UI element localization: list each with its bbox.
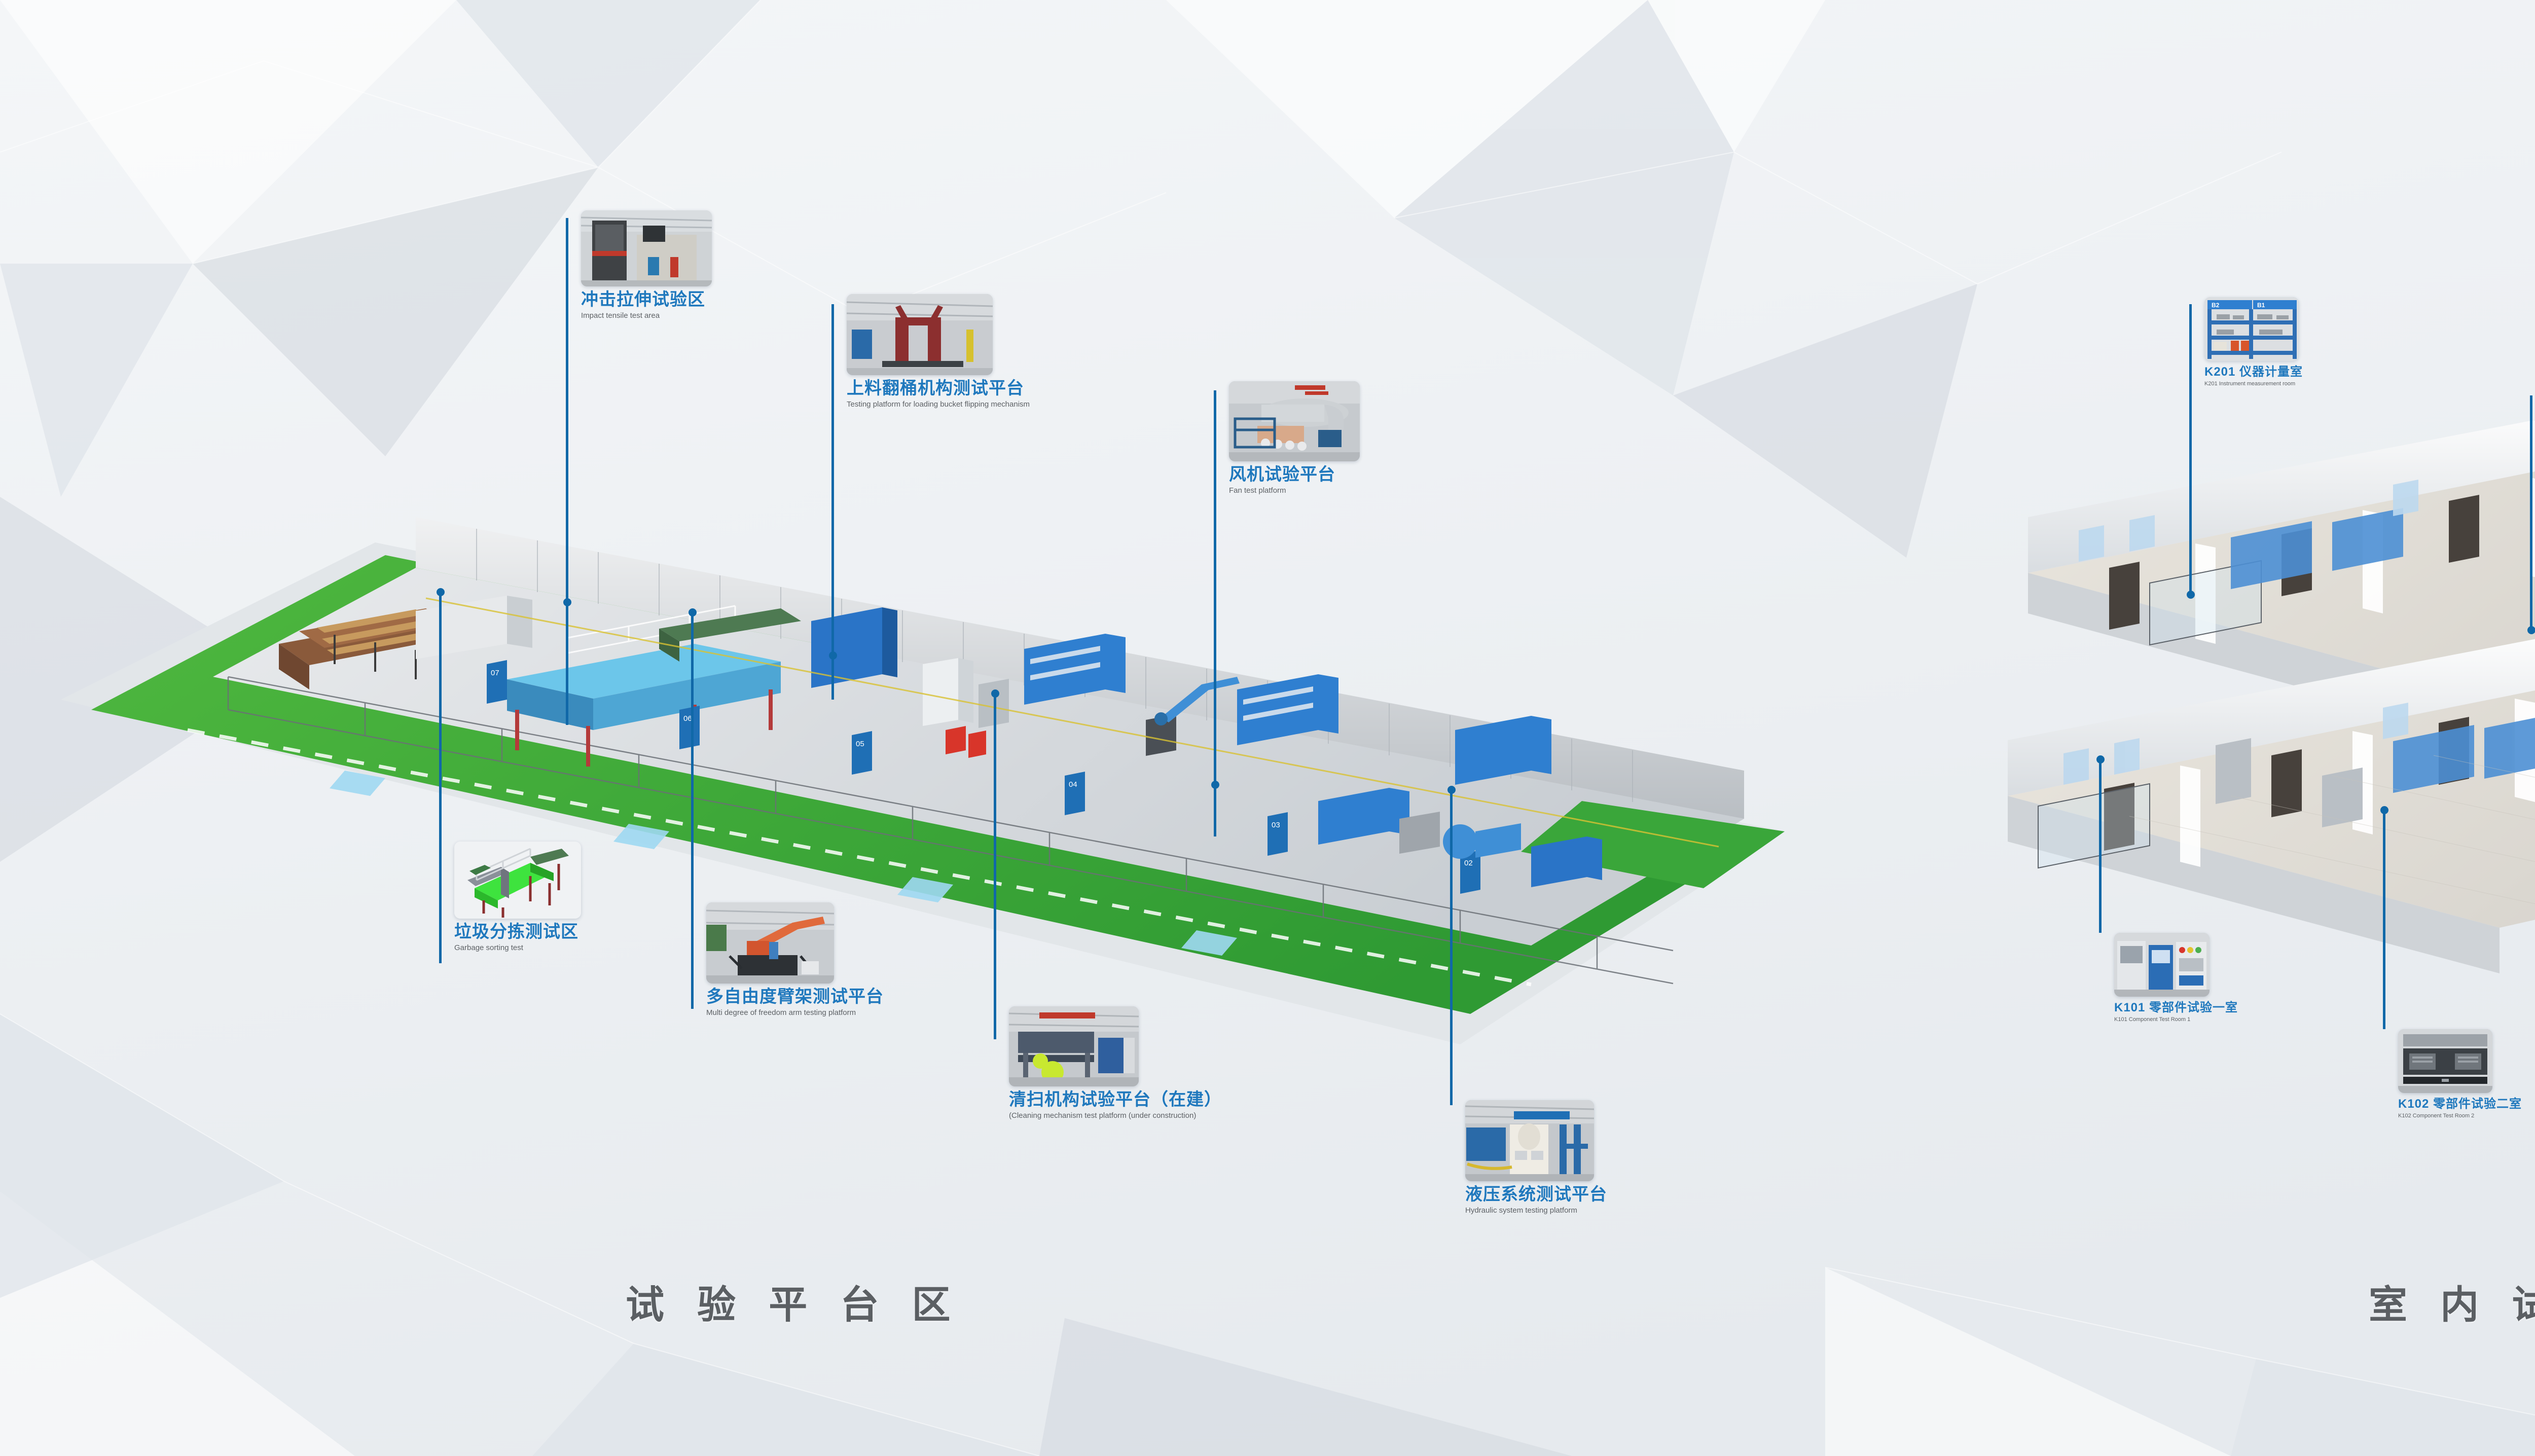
leader-line-hydraulic-system xyxy=(1450,791,1453,1105)
leader-dot-k101 xyxy=(2096,755,2105,763)
callout-k102[interactable]: K102 零部件试验二室 K102 Component Test Room 2 xyxy=(2398,1029,2522,1119)
leader-dot-k203 xyxy=(2527,626,2535,634)
callout-title-en: Fan test platform xyxy=(1229,487,1360,495)
leader-dot-garbage-sorting xyxy=(437,588,445,596)
thumb-multi-dof-arm-platform xyxy=(706,902,834,984)
leader-line-cleaning-mechanism xyxy=(994,695,996,1039)
callout-hydraulic-system[interactable]: 液压系统测试平台 Hydraulic system testing platfo… xyxy=(1465,1100,1607,1215)
leader-dot-hydraulic-system xyxy=(1447,786,1456,794)
thumb-component-test-room-1 xyxy=(2114,933,2210,997)
callout-title-cn: K102 零部件试验二室 xyxy=(2398,1098,2522,1110)
callout-title-cn: 液压系统测试平台 xyxy=(1465,1186,1607,1204)
leader-dot-k102 xyxy=(2380,806,2388,814)
callout-bucket-flip[interactable]: 上料翻桶机构测试平台 Testing platform for loading … xyxy=(847,294,1030,409)
thumb-garbage-sorting-render xyxy=(454,842,581,919)
leader-line-k203 xyxy=(2530,395,2532,634)
leader-dot-bucket-flip xyxy=(829,651,837,660)
callout-title-cn: K101 零部件试验一室 xyxy=(2114,1001,2238,1014)
section-title-outdoor: 试 验 平 台 区 xyxy=(626,1273,961,1329)
callout-title-cn: 垃圾分拣测试区 xyxy=(454,923,581,941)
callout-title-en: Testing platform for loading bucket flip… xyxy=(847,401,1030,409)
callout-title-en: Hydraulic system testing platform xyxy=(1465,1207,1607,1215)
leader-line-bucket-flip xyxy=(831,304,834,700)
callout-title-en: Garbage sorting test xyxy=(454,944,581,953)
callout-title-en: K102 Component Test Room 2 xyxy=(2398,1113,2522,1119)
svg-text:07: 07 xyxy=(491,669,499,677)
thumb-component-test-room-2 xyxy=(2398,1029,2492,1093)
leader-dot-fan-test xyxy=(1211,781,1219,789)
leader-line-fan-test xyxy=(1214,390,1216,836)
callout-title-en: Multi degree of freedom arm testing plat… xyxy=(706,1009,884,1017)
callout-title-en: Impact tensile test area xyxy=(581,312,712,320)
leader-dot-impact-tensile xyxy=(563,598,571,606)
callout-fan-test[interactable]: 风机试验平台 Fan test platform xyxy=(1229,381,1360,495)
svg-text:03: 03 xyxy=(1272,821,1280,829)
callout-multi-dof-arm[interactable]: 多自由度臂架测试平台 Multi degree of freedom arm t… xyxy=(706,902,884,1017)
leader-line-garbage-sorting xyxy=(439,593,442,963)
leader-line-impact-tensile xyxy=(566,218,568,725)
callout-title-cn: 上料翻桶机构测试平台 xyxy=(847,380,1030,398)
svg-text:B2: B2 xyxy=(2212,302,2220,309)
leader-dot-cleaning-mechanism xyxy=(991,689,999,698)
thumb-hydraulic-system-platform xyxy=(1465,1100,1594,1181)
callout-title-en: K101 Component Test Room 1 xyxy=(2114,1016,2238,1023)
thumb-bucket-flipping-mechanism xyxy=(847,294,993,375)
svg-text:B1: B1 xyxy=(2257,302,2265,309)
leader-line-multi-dof-arm xyxy=(691,613,694,1009)
thumb-cleaning-mechanism-platform xyxy=(1009,1006,1139,1086)
svg-text:05: 05 xyxy=(856,740,864,748)
thumb-impact-tensile-test-area xyxy=(581,210,712,286)
svg-text:02: 02 xyxy=(1464,859,1473,867)
leader-line-k201 xyxy=(2189,304,2192,598)
callout-title-en: K201 Instrument measurement room xyxy=(2204,381,2303,387)
callout-k101[interactable]: K101 零部件试验一室 K101 Component Test Room 1 xyxy=(2114,933,2238,1023)
callout-impact-tensile[interactable]: 冲击拉伸试验区 Impact tensile test area xyxy=(581,210,712,320)
callout-garbage-sorting[interactable]: 垃圾分拣测试区 Garbage sorting test xyxy=(454,842,581,952)
callout-k201[interactable]: B2 B1 K201 仪器计量室 K201 Instrument measure… xyxy=(2204,297,2303,387)
thumb-fan-test-platform xyxy=(1229,381,1360,461)
leader-line-k102 xyxy=(2383,811,2385,1029)
section-title-indoor: 室 内 试 验 区 xyxy=(2369,1273,2535,1329)
thumb-instrument-measurement-room: B2 B1 xyxy=(2204,297,2299,361)
leader-dot-multi-dof-arm xyxy=(689,608,697,616)
leader-dot-k201 xyxy=(2187,591,2195,599)
callout-title-en: (Cleaning mechanism test platform (under… xyxy=(1009,1112,1222,1120)
leader-line-k101 xyxy=(2099,760,2102,933)
callout-title-cn: 风机试验平台 xyxy=(1229,466,1360,484)
callout-title-cn: 清扫机构试验平台（在建） xyxy=(1009,1091,1222,1109)
callout-title-cn: K201 仪器计量室 xyxy=(2204,366,2303,378)
callout-title-cn: 多自由度臂架测试平台 xyxy=(706,988,884,1006)
svg-text:04: 04 xyxy=(1069,780,1077,789)
callout-title-cn: 冲击拉伸试验区 xyxy=(581,291,712,309)
callout-cleaning-mechanism[interactable]: 清扫机构试验平台（在建） (Cleaning mechanism test pl… xyxy=(1009,1006,1222,1120)
